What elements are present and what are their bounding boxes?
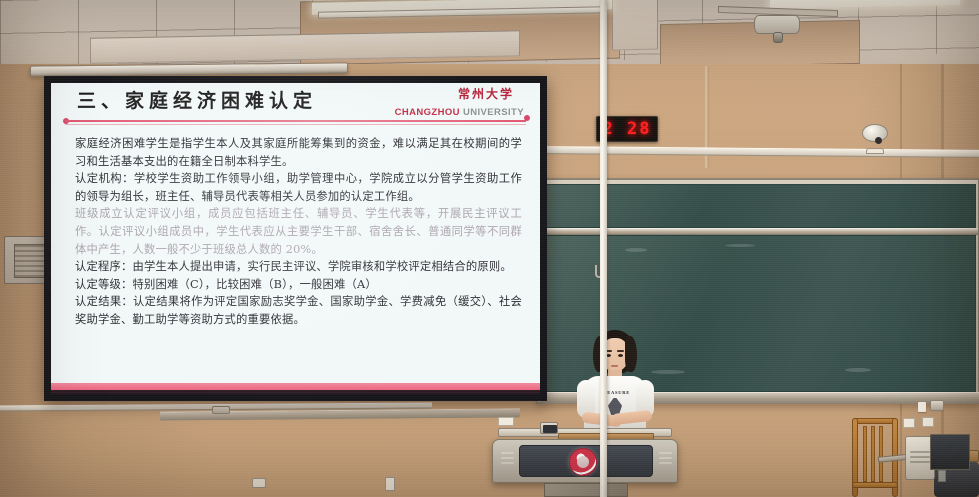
eyebrow-right <box>617 350 624 352</box>
slide-paragraph: 认定程序：由学生本人提出申请，实行民主评议、学院审核和学校评定相结合的原则。 <box>75 258 522 276</box>
hair-right-side <box>625 336 637 372</box>
slide-footer-shadow <box>51 390 540 394</box>
university-logo-en: CHANGZHOU UNIVERSITY <box>395 107 524 118</box>
presentation-slide: 三、家庭经济困难认定 常州大学 CHANGZHOU UNIVERSITY 家庭经… <box>51 83 540 394</box>
logo-en-secondary: UNIVERSITY <box>463 107 524 118</box>
wall-outlet-1[interactable] <box>252 478 266 488</box>
control-panel-screen <box>543 425 557 433</box>
lectern-paper-slip <box>498 417 514 426</box>
chalk-piece-1 <box>918 402 926 412</box>
blackboard-upper-panel <box>544 184 976 228</box>
ledge-eraser <box>212 406 230 414</box>
slide-footer-bar <box>51 383 540 390</box>
slide-paragraph: 家庭经济困难学生是指学生本人及其家庭所能筹集到的资金，难以满足其在校期间的学习和… <box>75 135 522 170</box>
camera-mount <box>866 148 884 154</box>
slide-header: 三、家庭经济困难认定 常州大学 CHANGZHOU UNIVERSITY <box>51 83 540 129</box>
slide-paragraph: 认定等级：特别困难（C），比较困难（B），一般困难（A） <box>75 276 522 294</box>
vent-louvers <box>14 244 46 278</box>
wall-switch[interactable] <box>385 477 395 491</box>
desk-paper <box>938 470 946 482</box>
pc-note-2 <box>922 417 934 427</box>
support-pole <box>600 0 607 497</box>
slide-paragraph: 认定结果：认定结果将作为评定国家励志奖学金、国家助学金、学费减免（缓交）、社会奖… <box>75 293 522 328</box>
title-rule <box>65 120 526 122</box>
lectern <box>492 424 678 497</box>
blackboard-eraser <box>930 400 944 411</box>
slide-body: 家庭经济困难学生是指学生本人及其家庭所能筹集到的资金，难以满足其在校期间的学习和… <box>75 135 522 329</box>
clock-display: 2 28 <box>603 119 652 139</box>
blackboard-divider-rail <box>542 228 978 235</box>
slide-paragraph: 认定机构：学校学生资助工作领导小组，助学管理中心，学院成立以分管学生资助工作的领… <box>75 170 522 205</box>
eye-right <box>618 354 623 357</box>
slide-title: 三、家庭经济困难认定 <box>77 86 317 113</box>
slide-paragraph: 班级成立认定评议小组，成员应包括班主任、辅导员、学生代表等，开展民主评议工作。认… <box>75 205 522 258</box>
logo-en-primary: CHANGZHOU <box>395 107 460 118</box>
university-crest-icon <box>569 448 597 476</box>
mouth <box>611 365 618 367</box>
pc-note-1 <box>903 418 915 428</box>
projection-screen: 三、家庭经济困难认定 常州大学 CHANGZHOU UNIVERSITY 家庭经… <box>44 76 547 401</box>
title-rule-secondary <box>65 124 526 125</box>
classroom-scene: 2 28 三、家庭经济困难认定 常州大学 <box>0 0 979 497</box>
ceiling-panel-mid <box>612 0 658 50</box>
university-logo-cn: 常州大学 <box>458 85 514 102</box>
tshirt-print-text: PLEASURE <box>590 390 640 395</box>
lectern-body <box>492 439 678 483</box>
lectern-base <box>544 483 628 497</box>
accent-dot-right <box>524 115 530 121</box>
camera-lens-icon <box>875 137 882 144</box>
pc-monitor <box>930 434 970 470</box>
lectern-control-panel <box>540 422 558 434</box>
ceiling-projector <box>718 2 838 52</box>
